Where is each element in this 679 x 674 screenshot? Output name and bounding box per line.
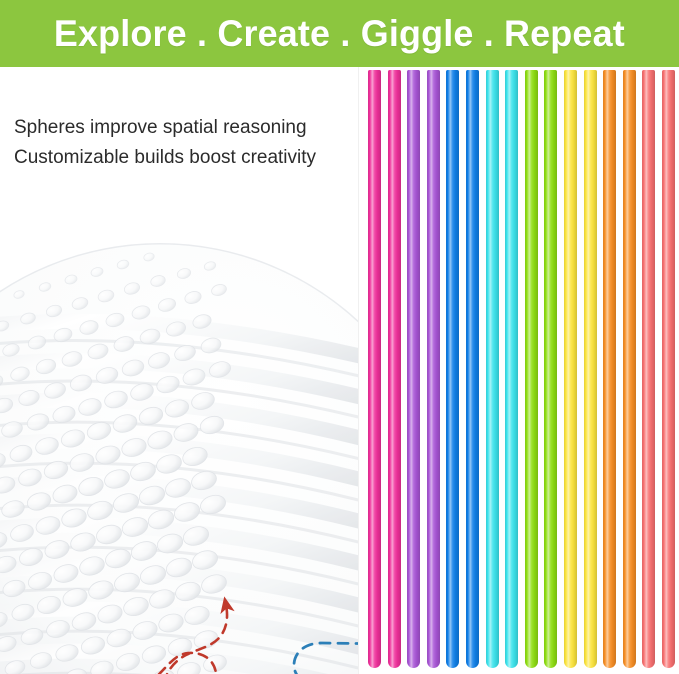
- feature-bullet-list: Spheres improve spatial reasoning Custom…: [14, 113, 358, 173]
- product-infographic: Explore . Create . Giggle . Repeat Spher…: [0, 0, 679, 674]
- feature-bullet-2: Customizable builds boost creativity: [14, 143, 358, 173]
- stick-gloss: [623, 70, 636, 668]
- stick-yellow-2: [584, 70, 597, 668]
- stick-gloss: [564, 70, 577, 668]
- stick-orange-1: [603, 70, 616, 668]
- stick-gloss: [388, 70, 401, 668]
- stick-coral-2: [662, 70, 675, 668]
- stick-purple-1: [407, 70, 420, 668]
- stick-gloss: [446, 70, 459, 668]
- stick-green-2: [544, 70, 557, 668]
- stick-cyan-2: [505, 70, 518, 668]
- stick-gloss: [642, 70, 655, 668]
- headline-banner: Explore . Create . Giggle . Repeat: [0, 0, 679, 67]
- stick-cyan-1: [486, 70, 499, 668]
- stick-coral-1: [642, 70, 655, 668]
- stick-gloss: [505, 70, 518, 668]
- stick-gloss: [544, 70, 557, 668]
- stick-magenta-2: [388, 70, 401, 668]
- stick-gloss: [427, 70, 440, 668]
- stick-gloss: [525, 70, 538, 668]
- stick-magenta-1: [368, 70, 381, 668]
- stick-green-1: [525, 70, 538, 668]
- left-feature-panel: Spheres improve spatial reasoning Custom…: [0, 67, 358, 674]
- stick-gloss: [662, 70, 675, 668]
- stick-orange-2: [623, 70, 636, 668]
- stick-array: [359, 67, 679, 674]
- stick-gloss: [466, 70, 479, 668]
- stick-purple-2: [427, 70, 440, 668]
- stick-blue-2: [466, 70, 479, 668]
- right-sticks-panel: [359, 67, 679, 674]
- stick-gloss: [407, 70, 420, 668]
- stick-gloss: [584, 70, 597, 668]
- stick-gloss: [603, 70, 616, 668]
- sphere-svg: 4mm 4mm: [0, 235, 358, 674]
- feature-bullet-1: Spheres improve spatial reasoning: [14, 113, 358, 143]
- sphere-illustration: 4mm 4mm: [0, 235, 358, 674]
- stick-blue-1: [446, 70, 459, 668]
- stick-yellow-1: [564, 70, 577, 668]
- stick-gloss: [368, 70, 381, 668]
- stick-gloss: [486, 70, 499, 668]
- headline-text: Explore . Create . Giggle . Repeat: [54, 13, 625, 55]
